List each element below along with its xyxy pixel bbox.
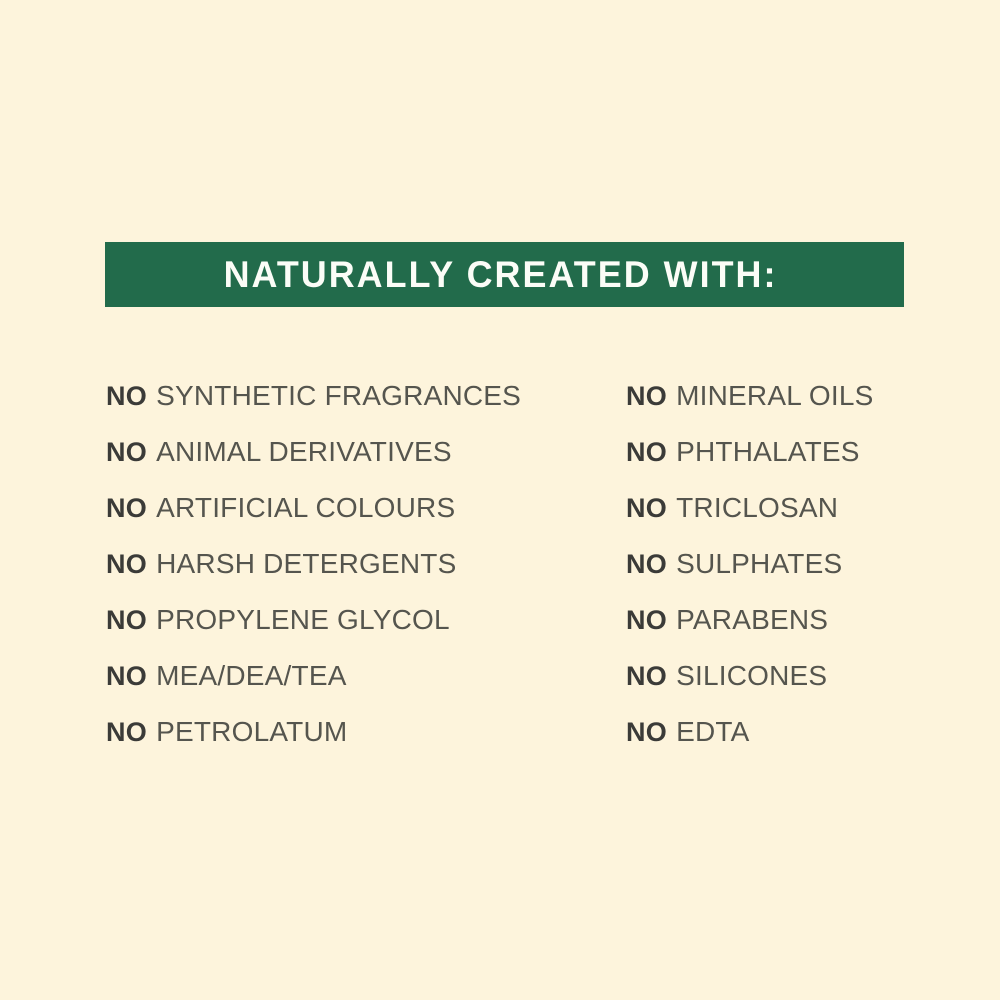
no-prefix: NO [626,551,667,578]
list-item: NO ARTIFICIAL COLOURS [106,480,521,536]
no-prefix: NO [106,719,147,746]
list-item: NO EDTA [626,704,874,760]
ingredient-label: MEA/DEA/TEA [156,662,346,690]
list-item: NO PROPYLENE GLYCOL [106,592,521,648]
list-item: NO ANIMAL DERIVATIVES [106,424,521,480]
ingredient-label: MINERAL OILS [676,382,873,410]
list-item: NO SULPHATES [626,536,874,592]
ingredient-label: TRICLOSAN [676,494,838,522]
left-column: NO SYNTHETIC FRAGRANCES NO ANIMAL DERIVA… [106,368,521,760]
list-item: NO PETROLATUM [106,704,521,760]
no-prefix: NO [626,495,667,522]
ingredient-label: SYNTHETIC FRAGRANCES [156,382,521,410]
no-prefix: NO [626,383,667,410]
ingredient-label: ANIMAL DERIVATIVES [156,438,452,466]
banner-title: NATURALLY CREATED WITH: [224,256,778,293]
no-prefix: NO [106,551,147,578]
no-prefix: NO [626,439,667,466]
header-banner: NATURALLY CREATED WITH: [105,242,904,307]
ingredient-label: PROPYLENE GLYCOL [156,606,450,634]
exclusion-lists: NO SYNTHETIC FRAGRANCES NO ANIMAL DERIVA… [0,368,1000,768]
ingredient-label: ARTIFICIAL COLOURS [156,494,455,522]
no-prefix: NO [106,439,147,466]
ingredient-label: SILICONES [676,662,827,690]
no-prefix: NO [106,495,147,522]
ingredient-label: PETROLATUM [156,718,347,746]
no-prefix: NO [626,719,667,746]
no-prefix: NO [626,607,667,634]
ingredient-label: HARSH DETERGENTS [156,550,456,578]
no-prefix: NO [626,663,667,690]
no-prefix: NO [106,607,147,634]
no-prefix: NO [106,383,147,410]
ingredient-label: EDTA [676,718,749,746]
right-column: NO MINERAL OILS NO PHTHALATES NO TRICLOS… [626,368,874,760]
list-item: NO MEA/DEA/TEA [106,648,521,704]
list-item: NO PHTHALATES [626,424,874,480]
ingredient-free-poster: NATURALLY CREATED WITH: NO SYNTHETIC FRA… [0,0,1000,1000]
list-item: NO SILICONES [626,648,874,704]
ingredient-label: PHTHALATES [676,438,860,466]
no-prefix: NO [106,663,147,690]
list-item: NO HARSH DETERGENTS [106,536,521,592]
list-item: NO SYNTHETIC FRAGRANCES [106,368,521,424]
list-item: NO TRICLOSAN [626,480,874,536]
list-item: NO PARABENS [626,592,874,648]
list-item: NO MINERAL OILS [626,368,874,424]
ingredient-label: SULPHATES [676,550,842,578]
ingredient-label: PARABENS [676,606,828,634]
